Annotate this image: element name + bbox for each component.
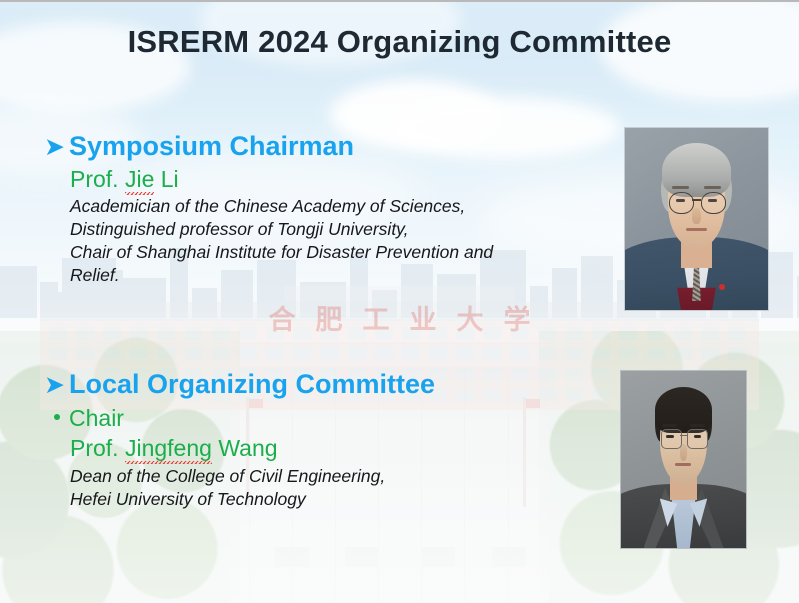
person-name: Prof. Jingfeng Wang xyxy=(70,435,604,461)
section-heading-row: ➤ Symposium Chairman xyxy=(44,132,619,162)
arrow-bullet-icon: ➤ xyxy=(44,372,65,397)
slide-title: ISRERM 2024 Organizing Committee xyxy=(0,24,799,60)
portrait-mouth xyxy=(675,463,691,466)
description-line: Relief. xyxy=(70,264,619,287)
person-name: Prof. Jie Li xyxy=(70,166,619,192)
person-name-flagged-word: Jingfeng xyxy=(125,435,212,464)
portrait-photo-local-chair xyxy=(620,370,747,549)
person-name-surname: Li xyxy=(154,166,178,192)
role-label: Chair xyxy=(69,405,124,431)
slide-content: ISRERM 2024 Organizing Committee ➤ Sympo… xyxy=(0,2,799,603)
portrait-mouth xyxy=(686,228,706,231)
portrait-eyeglasses-lens xyxy=(661,429,682,449)
portrait-eyebrow xyxy=(704,186,721,188)
section-heading-label: Local Organizing Committee xyxy=(69,370,435,400)
portrait-eyebrow xyxy=(672,186,689,188)
presentation-slide: 合肥工业大学 ISRERM 2024 Organizing Committee … xyxy=(0,0,799,603)
arrow-bullet-icon: ➤ xyxy=(44,134,65,159)
portrait-photo-symposium-chairman xyxy=(624,127,769,311)
section-heading-label: Symposium Chairman xyxy=(69,132,354,162)
person-description: Dean of the College of Civil Engineering… xyxy=(70,465,604,511)
person-name-prefix: Prof. xyxy=(70,166,125,192)
portrait-nose xyxy=(680,444,688,462)
person-name-surname: Wang xyxy=(212,435,278,461)
section-symposium-chairman: ➤ Symposium Chairman Prof. Jie Li Academ… xyxy=(44,132,619,288)
section-heading-row: ➤ Local Organizing Committee xyxy=(44,370,604,400)
portrait-eyeglasses-bridge xyxy=(680,435,688,437)
portrait-eyebrow xyxy=(662,424,677,427)
description-line: Hefei University of Technology xyxy=(70,488,604,511)
person-name-flagged-word: Jie xyxy=(125,166,154,195)
portrait-eyeglasses-bridge xyxy=(692,199,701,201)
portrait-nose xyxy=(692,208,701,224)
description-line: Dean of the College of Civil Engineering… xyxy=(70,465,604,488)
role-row: Chair xyxy=(54,405,604,431)
person-description: Academician of the Chinese Academy of Sc… xyxy=(70,195,619,287)
portrait-eyeglasses-lens xyxy=(669,192,694,214)
portrait-eyeglasses-lens xyxy=(687,429,708,449)
section-local-organizing-committee: ➤ Local Organizing Committee Chair Prof.… xyxy=(44,370,604,511)
person-name-prefix: Prof. xyxy=(70,435,125,461)
portrait-hair xyxy=(662,143,731,198)
description-line: Distinguished professor of Tongji Univer… xyxy=(70,218,619,241)
description-line: Chair of Shanghai Institute for Disaster… xyxy=(70,241,619,264)
description-line: Academician of the Chinese Academy of Sc… xyxy=(70,195,619,218)
portrait-eyeglasses-lens xyxy=(701,192,726,214)
portrait-eyebrow xyxy=(690,424,705,427)
dot-bullet-icon xyxy=(54,414,60,420)
